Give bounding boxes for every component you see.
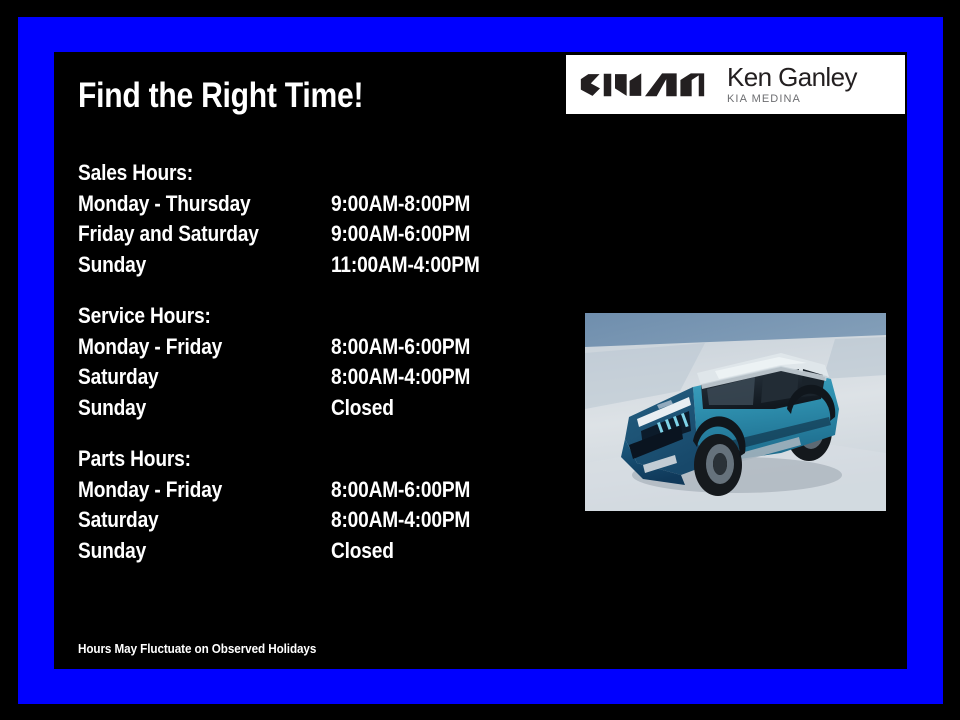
- dealer-location: KIA MEDINA: [727, 93, 857, 105]
- hours-listing: Sales Hours: Monday - Thursday 9:00AM-8:…: [78, 158, 548, 587]
- section-heading-service: Service Hours:: [78, 301, 487, 332]
- day-label: Saturday: [78, 362, 159, 393]
- day-label: Sunday: [78, 393, 146, 424]
- day-label: Friday and Saturday: [78, 219, 259, 250]
- hours-row: Sunday 11:00AM-4:00PM: [78, 250, 548, 281]
- time-label: 9:00AM-8:00PM: [331, 189, 470, 220]
- day-label: Sunday: [78, 536, 146, 567]
- time-label: 9:00AM-6:00PM: [331, 219, 470, 250]
- time-label: Closed: [331, 536, 394, 567]
- time-label: 8:00AM-4:00PM: [331, 505, 470, 536]
- section-heading-parts: Parts Hours:: [78, 444, 487, 475]
- hours-row: Monday - Friday 8:00AM-6:00PM: [78, 332, 548, 363]
- hours-row: Friday and Saturday 9:00AM-6:00PM: [78, 219, 548, 250]
- hours-section-service: Service Hours: Monday - Friday 8:00AM-6:…: [78, 301, 548, 423]
- kia-wordmark-icon: [580, 70, 705, 100]
- vehicle-photo: [585, 313, 886, 511]
- time-label: 8:00AM-6:00PM: [331, 475, 470, 506]
- dealer-logo-panel: Ken Ganley KIA MEDINA: [566, 55, 905, 114]
- hours-section-parts: Parts Hours: Monday - Friday 8:00AM-6:00…: [78, 444, 548, 566]
- time-label: 8:00AM-6:00PM: [331, 332, 470, 363]
- section-heading-sales: Sales Hours:: [78, 158, 487, 189]
- page-title: Find the Right Time!: [78, 76, 363, 116]
- dealer-name-group: Ken Ganley KIA MEDINA: [727, 64, 857, 105]
- slide-canvas: Find the Right Time! Sales Hours: Monday…: [0, 0, 960, 720]
- hours-row: Sunday Closed: [78, 393, 548, 424]
- hours-row: Saturday 8:00AM-4:00PM: [78, 362, 548, 393]
- holiday-disclaimer: Hours May Fluctuate on Observed Holidays: [78, 641, 316, 657]
- hours-section-sales: Sales Hours: Monday - Thursday 9:00AM-8:…: [78, 158, 548, 280]
- hours-row: Sunday Closed: [78, 536, 548, 567]
- day-label: Sunday: [78, 250, 146, 281]
- time-label: 8:00AM-4:00PM: [331, 362, 470, 393]
- day-label: Monday - Thursday: [78, 189, 251, 220]
- time-label: 11:00AM-4:00PM: [331, 250, 480, 281]
- hours-row: Monday - Friday 8:00AM-6:00PM: [78, 475, 548, 506]
- day-label: Monday - Friday: [78, 332, 222, 363]
- hours-row: Saturday 8:00AM-4:00PM: [78, 505, 548, 536]
- dealer-name: Ken Ganley: [727, 64, 857, 91]
- vehicle-photo-illustration: [585, 313, 886, 511]
- day-label: Monday - Friday: [78, 475, 222, 506]
- day-label: Saturday: [78, 505, 159, 536]
- time-label: Closed: [331, 393, 394, 424]
- hours-row: Monday - Thursday 9:00AM-8:00PM: [78, 189, 548, 220]
